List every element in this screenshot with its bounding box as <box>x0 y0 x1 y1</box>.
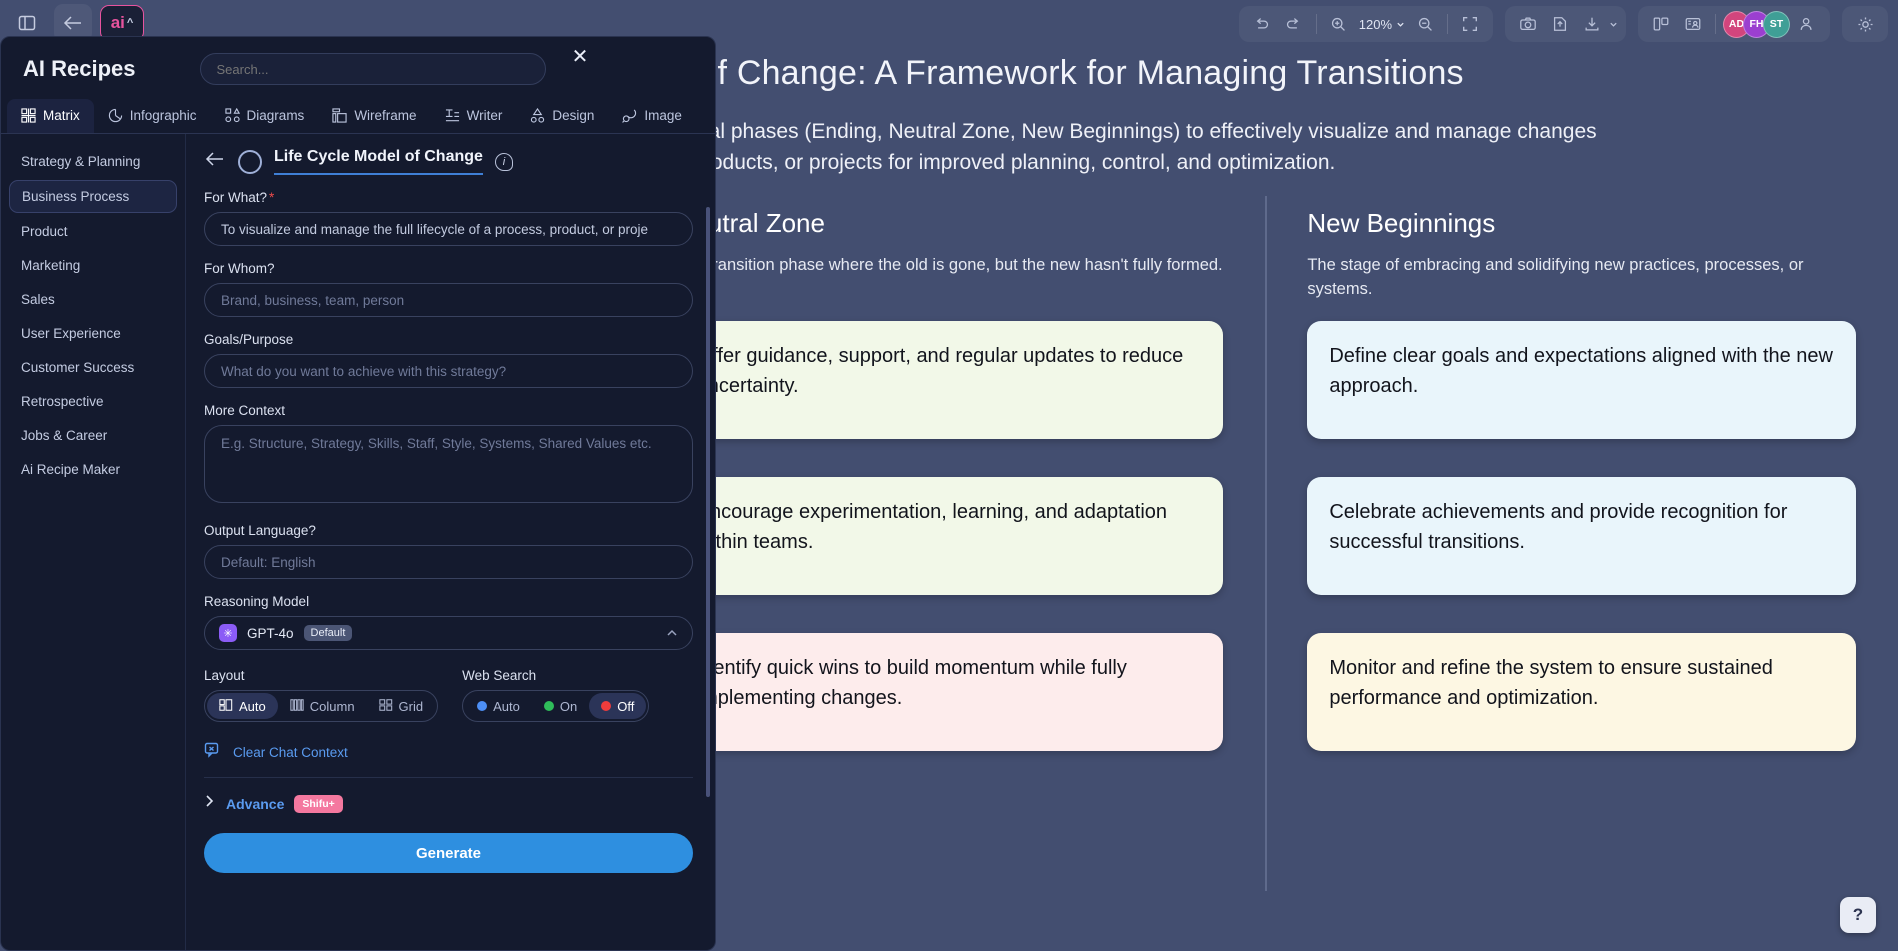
goals-label: Goals/Purpose <box>204 332 693 347</box>
web-search-option-label: Off <box>617 699 634 714</box>
divider <box>1715 14 1716 34</box>
reasoning-model-label: Reasoning Model <box>204 594 693 609</box>
chevron-right-icon <box>204 794 216 813</box>
app-root: Life Cycle Model of Change: A Framework … <box>0 0 1898 951</box>
sidebar-item-business-process[interactable]: Business Process <box>9 180 177 213</box>
layout-option-label: Column <box>310 699 355 714</box>
settings-group <box>1842 6 1888 42</box>
tab-label: Writer <box>467 108 503 123</box>
column-heading: New Beginnings <box>1307 208 1856 239</box>
recipe-form: Life Cycle Model of Change i For What?* … <box>186 134 715 951</box>
sidebar-item-user-experience[interactable]: User Experience <box>9 318 177 349</box>
web-search-group: Web Search AutoOnOff <box>462 668 649 722</box>
board-card[interactable]: Encourage experimentation, learning, and… <box>675 477 1224 595</box>
panel-scrollbar[interactable] <box>706 207 710 797</box>
zoom-group: 120% <box>1239 6 1493 42</box>
web-search-option-on[interactable]: On <box>532 693 589 719</box>
field-output-language: Output Language? <box>204 523 693 579</box>
ai-recipes-panel: AI Recipes MatrixInfographicDiagramsWire… <box>0 36 716 951</box>
output-language-label: Output Language? <box>204 523 693 538</box>
field-reasoning-model: Reasoning Model ✳ GPT-4o Default <box>204 594 693 650</box>
zoom-level-value: 120% <box>1359 17 1392 32</box>
for-whom-input[interactable] <box>204 283 693 317</box>
for-what-input[interactable] <box>204 212 693 246</box>
download-icon[interactable] <box>1577 10 1607 38</box>
help-button[interactable]: ? <box>1840 897 1876 933</box>
layout-option-label: Auto <box>239 699 266 714</box>
panel-body: Strategy & PlanningBusiness ProcessProdu… <box>1 134 715 951</box>
column-heading: Neutral Zone <box>675 208 1224 239</box>
web-search-label: Web Search <box>462 668 649 683</box>
sidebar-item-jobs-career[interactable]: Jobs & Career <box>9 420 177 451</box>
sidebar-item-retrospective[interactable]: Retrospective <box>9 386 177 417</box>
export-group <box>1505 6 1626 42</box>
sidebar-item-marketing[interactable]: Marketing <box>9 250 177 281</box>
sidebar-item-ai-recipe-maker[interactable]: Ai Recipe Maker <box>9 454 177 485</box>
reasoning-model-default-badge: Default <box>304 625 353 641</box>
gear-icon[interactable] <box>1850 10 1880 38</box>
model-badge-icon: ✳ <box>219 624 237 642</box>
layout-split-icon[interactable] <box>1646 10 1676 38</box>
reasoning-model-select[interactable]: ✳ GPT-4o Default <box>204 616 693 650</box>
recipe-icon <box>238 150 262 174</box>
options-row: Layout AutoColumnGrid Web Search AutoOnO… <box>204 668 693 722</box>
clear-chat-icon <box>204 742 224 763</box>
layout-auto-icon <box>219 698 233 715</box>
for-what-label: For What?* <box>204 190 693 205</box>
web-search-option-off[interactable]: Off <box>589 693 646 719</box>
tab-wireframe[interactable]: Wireframe <box>318 99 430 133</box>
collaboration-group: ADFHST <box>1638 6 1830 42</box>
panel-tabs: MatrixInfographicDiagramsWireframeWriter… <box>1 99 715 134</box>
toolbar-right-group: 120% <box>1239 6 1888 42</box>
search-input[interactable] <box>200 53 546 85</box>
board-column: Neutral ZoneThe transition phase where t… <box>633 208 1266 951</box>
diagrams-icon <box>225 108 240 123</box>
tab-infographic[interactable]: Infographic <box>94 99 211 133</box>
sidebar-item-customer-success[interactable]: Customer Success <box>9 352 177 383</box>
undo-icon[interactable] <box>1247 10 1277 38</box>
chevron-down-icon <box>1396 20 1405 29</box>
upload-icon[interactable] <box>1545 10 1575 38</box>
status-dot <box>477 701 487 711</box>
layout-grid-icon <box>379 698 393 715</box>
tab-label: Design <box>552 108 594 123</box>
tab-image[interactable]: Image <box>608 99 696 133</box>
column-description: The transition phase where the old is go… <box>675 253 1224 307</box>
field-for-what: For What?* <box>204 190 693 246</box>
more-context-label: More Context <box>204 403 693 418</box>
web-search-segmented-control: AutoOnOff <box>462 690 649 722</box>
status-dot <box>544 701 554 711</box>
more-context-textarea[interactable] <box>204 425 693 503</box>
web-search-option-auto[interactable]: Auto <box>465 693 532 719</box>
board-card[interactable]: Offer guidance, support, and regular upd… <box>675 321 1224 439</box>
output-language-input[interactable] <box>204 545 693 579</box>
status-dot <box>601 701 611 711</box>
add-collaborator-icon[interactable] <box>1792 10 1822 38</box>
design-icon <box>530 108 545 123</box>
info-icon[interactable]: i <box>495 153 513 171</box>
layout-group: Layout AutoColumnGrid <box>204 668 438 722</box>
redo-icon[interactable] <box>1279 10 1309 38</box>
avatar[interactable]: ST <box>1763 11 1790 38</box>
required-marker: * <box>269 190 274 205</box>
ai-chip-caret: ^ <box>127 17 133 29</box>
avatar-group[interactable]: ADFHST <box>1723 11 1790 38</box>
layout-column-icon <box>290 698 304 715</box>
chevron-up-icon <box>666 626 678 640</box>
tab-diagrams[interactable]: Diagrams <box>211 99 319 133</box>
card-list: Offer guidance, support, and regular upd… <box>675 321 1224 751</box>
panel-header: AI Recipes <box>1 37 715 85</box>
tab-label: Infographic <box>130 108 197 123</box>
sidebar-item-sales[interactable]: Sales <box>9 284 177 315</box>
close-icon[interactable]: ✕ <box>569 45 591 67</box>
matrix-icon <box>21 108 36 123</box>
divider <box>1447 14 1448 34</box>
camera-icon[interactable] <box>1513 10 1543 38</box>
tab-label: Wireframe <box>354 108 416 123</box>
sidebar-item-product[interactable]: Product <box>9 216 177 247</box>
card-list: Define clear goals and expectations alig… <box>1307 321 1856 751</box>
tab-label: Image <box>644 108 682 123</box>
advance-label: Advance <box>226 796 284 812</box>
chevron-down-icon[interactable] <box>1609 20 1618 29</box>
board-card[interactable]: Monitor and refine the system to ensure … <box>1307 633 1856 751</box>
layout-option-auto[interactable]: Auto <box>207 693 278 719</box>
board-card[interactable]: Celebrate achievements and provide recog… <box>1307 477 1856 595</box>
zoom-out-icon[interactable] <box>1410 10 1440 38</box>
writer-icon <box>445 108 460 123</box>
tab-label: Diagrams <box>247 108 305 123</box>
ai-chip-label: ai <box>111 13 125 33</box>
image-icon <box>622 108 637 123</box>
divider <box>1316 14 1317 34</box>
zoom-in-icon[interactable] <box>1324 10 1354 38</box>
layout-option-label: Grid <box>399 699 424 714</box>
form-header: Life Cycle Model of Change i <box>204 148 693 175</box>
web-search-option-label: On <box>560 699 577 714</box>
board-column: New BeginningsThe stage of embracing and… <box>1265 208 1898 951</box>
reasoning-model-value: GPT-4o <box>247 626 294 641</box>
shifu-plus-badge: Shifu+ <box>294 795 342 813</box>
layout-option-grid[interactable]: Grid <box>367 693 436 719</box>
tab-matrix[interactable]: Matrix <box>7 99 94 133</box>
column-description: The stage of embracing and solidifying n… <box>1307 253 1856 307</box>
layout-label: Layout <box>204 668 438 683</box>
present-icon[interactable] <box>1678 10 1708 38</box>
advance-toggle[interactable]: Advance Shifu+ <box>204 794 693 813</box>
divider <box>204 777 693 778</box>
clear-chat-context-label: Clear Chat Context <box>233 745 348 760</box>
board-card[interactable]: Define clear goals and expectations alig… <box>1307 321 1856 439</box>
panel-title: AI Recipes <box>23 56 136 82</box>
generate-button[interactable]: Generate <box>204 833 693 873</box>
field-for-whom: For Whom? <box>204 261 693 317</box>
layout-segmented-control: AutoColumnGrid <box>204 690 438 722</box>
field-goals: Goals/Purpose <box>204 332 693 388</box>
layout-option-column[interactable]: Column <box>278 693 367 719</box>
form-back-icon[interactable] <box>204 150 226 173</box>
zoom-level[interactable]: 120% <box>1356 17 1408 32</box>
for-whom-label: For Whom? <box>204 261 693 276</box>
clear-chat-context-button[interactable]: Clear Chat Context <box>204 742 693 763</box>
board-card[interactable]: Identify quick wins to build momentum wh… <box>675 633 1224 751</box>
fit-screen-icon[interactable] <box>1455 10 1485 38</box>
infographic-icon <box>108 108 123 123</box>
tab-label: Matrix <box>43 108 80 123</box>
web-search-option-label: Auto <box>493 699 520 714</box>
wireframe-icon <box>332 108 347 123</box>
tab-design[interactable]: Design <box>516 99 608 133</box>
field-more-context: More Context <box>204 403 693 508</box>
goals-input[interactable] <box>204 354 693 388</box>
tab-writer[interactable]: Writer <box>431 99 517 133</box>
recipe-title: Life Cycle Model of Change <box>274 148 483 175</box>
for-what-label-text: For What? <box>204 190 267 205</box>
category-list: Strategy & PlanningBusiness ProcessProdu… <box>1 134 186 951</box>
sidebar-item-strategy-planning[interactable]: Strategy & Planning <box>9 146 177 177</box>
